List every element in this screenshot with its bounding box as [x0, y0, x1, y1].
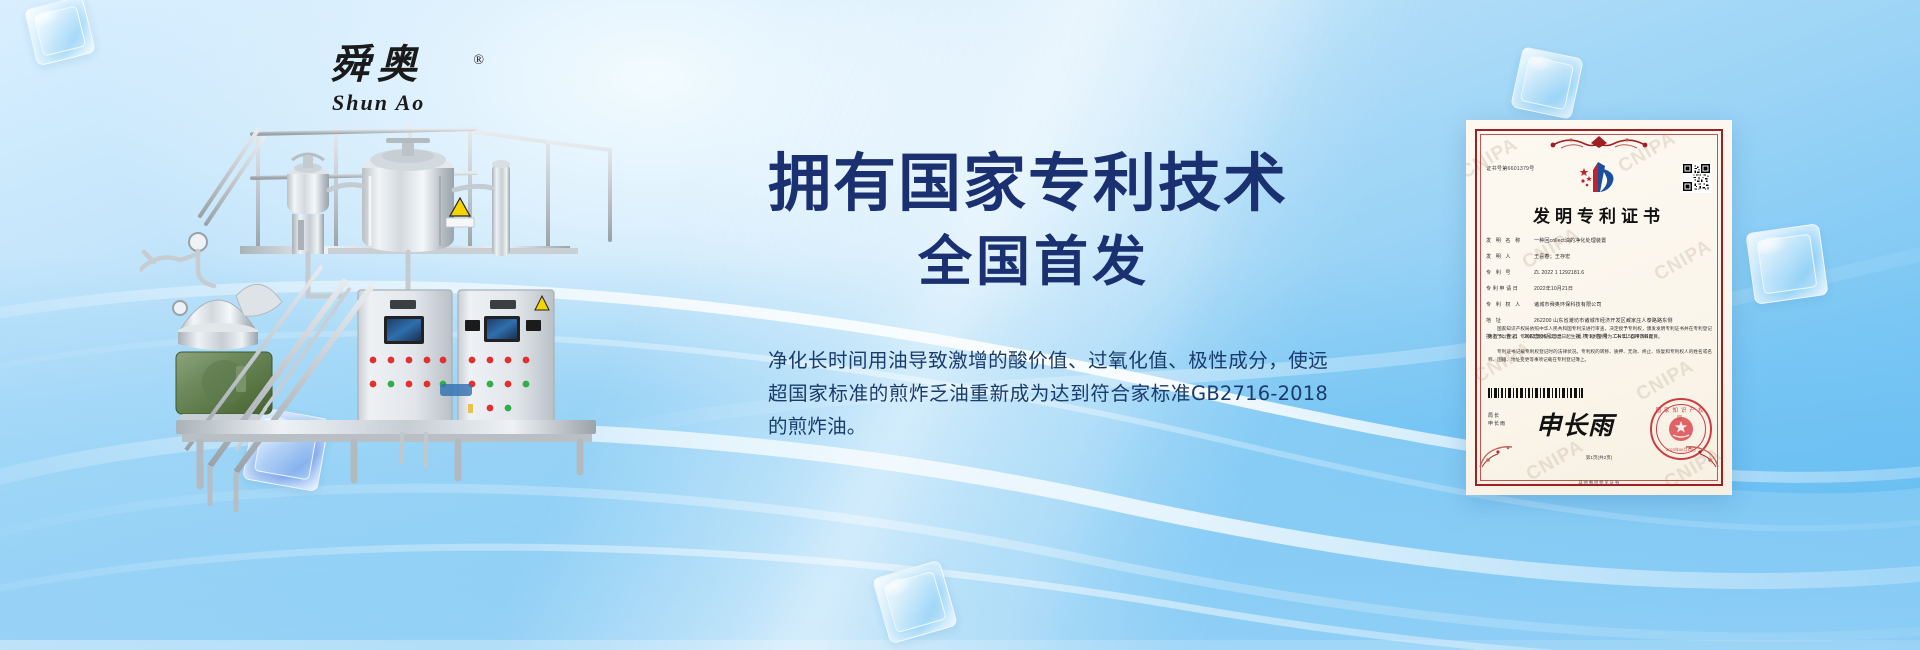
field-value: 一种回collect油的净化处理装置: [1534, 238, 1714, 245]
qr-code-icon: [1681, 162, 1712, 193]
registered-trademark-icon: ®: [473, 38, 484, 84]
machine-illustration: [140, 120, 660, 520]
certificate-field-row: 发 明 名 称 一种回collect油的净化处理装置: [1486, 238, 1714, 245]
brand-logo: 舜奥 ® Shun Ao: [330, 42, 480, 128]
field-key: 专 利 号: [1486, 270, 1534, 277]
certificate-title: 发明专利证书: [1466, 202, 1732, 227]
certificate-body-text: 国家知识产权局依照中华人民共和国专利法进行审查，决定授予专利权，颁发发明专利证书…: [1488, 325, 1712, 371]
brand-logo-cn-text: 舜奥: [330, 42, 424, 87]
hero-headline-line2: 全国首发: [768, 230, 1328, 294]
field-key: 地 址: [1486, 318, 1534, 325]
cnipa-emblem-icon: [1576, 160, 1622, 194]
field-key: 专 利 权 人: [1486, 302, 1534, 309]
seal-text: 国家知识产权局: [1652, 406, 1710, 422]
pressure-gauge-icon: [173, 301, 187, 315]
director-label: 局长申长雨: [1488, 412, 1506, 428]
field-value: 262200 山东省潍坊市诸城市经济开发区臧家庄人泰路路东侧: [1534, 318, 1714, 325]
patent-certificate: CNIPA CNIPA CNIPA CNIPA CNIPA CNIPA CNIP…: [1466, 120, 1732, 495]
director-signature: 申长雨: [1536, 406, 1614, 442]
certificate-ornament-icon: [1539, 134, 1659, 150]
field-value: 诸城市舜奥环保科技有限公司: [1534, 302, 1714, 309]
field-value: ZL 2022 1 1292181.6: [1534, 270, 1714, 277]
hero-copy: 拥有国家专利技术 全国首发 净化长时间用油导致激增的酸价值、过氧化值、极性成分，…: [768, 148, 1328, 443]
ice-cube-icon: [1745, 223, 1828, 305]
barcode-icon: [1488, 388, 1584, 398]
hero-headline-line1: 拥有国家专利技术: [768, 148, 1328, 220]
field-value: 王喜春；王存宏: [1534, 254, 1714, 261]
pressure-gauge-icon: [189, 233, 207, 251]
field-key: 专利申请日: [1486, 286, 1534, 293]
control-cabinet-left: [358, 290, 452, 430]
field-key: 发 明 名 称: [1486, 238, 1534, 245]
certificate-page-note: 第1页(共2页): [1466, 455, 1732, 461]
brand-logo-latin: Shun Ao: [330, 90, 480, 116]
hero-banner: 舜奥 ® Shun Ao: [0, 0, 1920, 650]
certificate-field-row: 发 明 人 王喜春；王存宏: [1486, 254, 1714, 261]
certificate-footer-note: 其他事项参见证书: [1466, 480, 1732, 486]
national-emblem-icon: [1668, 416, 1694, 442]
centrifuge-unit: [140, 233, 282, 434]
ice-cube-icon: [1510, 46, 1584, 120]
certificate-serial-number: 证书号第6601379号: [1486, 165, 1535, 172]
certificate-body-paragraph-1: 国家知识产权局依照中华人民共和国专利法进行审查，决定授予专利权，颁发发明专利证书…: [1488, 325, 1712, 341]
certificate-body-paragraph-2: 专利证书记载专利权登记时的法律状况。专利权的转移、质押、无效、终止、恢复和专利权…: [1488, 348, 1712, 364]
field-key: 发 明 人: [1486, 254, 1534, 261]
field-value: 2022年10月21日: [1534, 286, 1714, 293]
certificate-field-row: 地 址 262200 山东省潍坊市诸城市经济开发区臧家庄人泰路路东侧: [1486, 318, 1714, 325]
certificate-field-row: 专 利 号 ZL 2022 1 1292181.6: [1486, 270, 1714, 277]
brand-logo-cn: 舜奥 ®: [330, 42, 480, 88]
certificate-field-row: 专利申请日 2022年10月21日: [1486, 286, 1714, 293]
hero-paragraph: 净化长时间用油导致激增的酸价值、过氧化值、极性成分，使远超国家标准的煎炸乏油重新…: [768, 344, 1328, 443]
certificate-field-row: 专 利 权 人 诸城市舜奥环保科技有限公司: [1486, 302, 1714, 309]
control-cabinet-right: [458, 290, 554, 430]
